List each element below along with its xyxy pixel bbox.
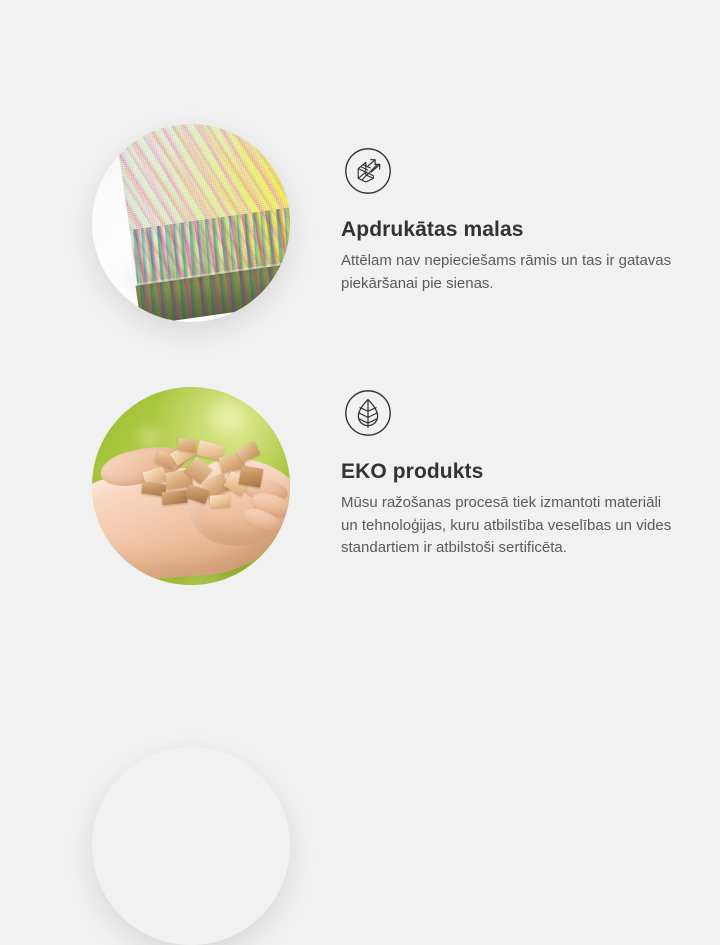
wood-chip xyxy=(236,441,260,462)
wood-chip xyxy=(210,494,231,507)
feature-page: Apdrukātas malas Attēlam nav nepieciešam… xyxy=(0,0,720,720)
wood-chip xyxy=(177,438,196,452)
wood-chip xyxy=(239,465,264,488)
feature-image-printed-edges xyxy=(92,124,290,322)
feature-title: EKO produkts xyxy=(341,459,681,485)
feature-text-printed-edges: Apdrukātas malas Attēlam nav nepieciešam… xyxy=(341,147,681,295)
wood-chip xyxy=(161,490,187,506)
feature-block-printed-edges: Apdrukātas malas Attēlam nav nepieciešam… xyxy=(0,0,720,360)
leaf-icon xyxy=(344,389,392,437)
canvas-printed-edges-icon xyxy=(344,147,392,195)
wood-chips-pile xyxy=(140,439,264,513)
feature-block-eko-product: EKO produkts Mūsu ražošanas procesā tiek… xyxy=(0,360,720,720)
feature-title: Apdrukātas malas xyxy=(341,217,681,243)
feature-text-eko-product: EKO produkts Mūsu ražošanas procesā tiek… xyxy=(341,389,681,560)
feature-description: Attēlam nav nepieciešams rāmis un tas ir… xyxy=(341,250,673,295)
eco-photo xyxy=(92,387,290,585)
canvas-photo xyxy=(92,124,290,322)
feature-image-eko-product xyxy=(92,387,290,585)
feature-description: Mūsu ražošanas procesā tiek izmantoti ma… xyxy=(341,492,673,560)
bokeh-highlight xyxy=(210,401,244,431)
disc-shadow-2 xyxy=(92,747,290,945)
canvas-print-block xyxy=(111,124,290,322)
